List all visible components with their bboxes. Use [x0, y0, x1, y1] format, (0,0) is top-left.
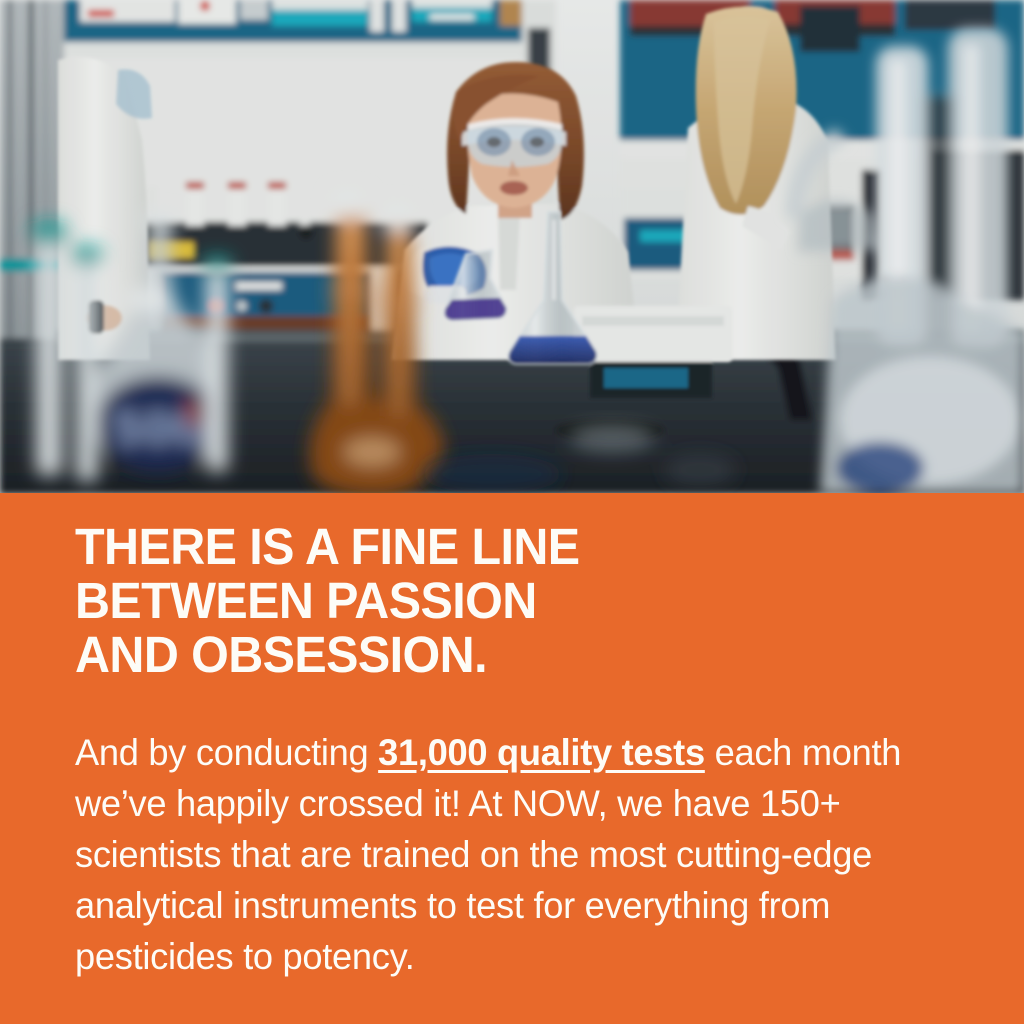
page-title: THERE IS A FINE LINE BETWEEN PASSION AND…	[75, 520, 930, 682]
stat-emphasis-quality-tests: 31,000 quality tests	[378, 732, 705, 773]
body-paragraph: And by conducting 31,000 quality tests e…	[75, 727, 937, 982]
body-text-part-1: And by conducting	[75, 732, 378, 773]
lab-photo: 500	[0, 0, 1024, 494]
poster: 500	[0, 0, 1024, 1024]
orange-text-band: THERE IS A FINE LINE BETWEEN PASSION AND…	[0, 493, 1024, 1024]
